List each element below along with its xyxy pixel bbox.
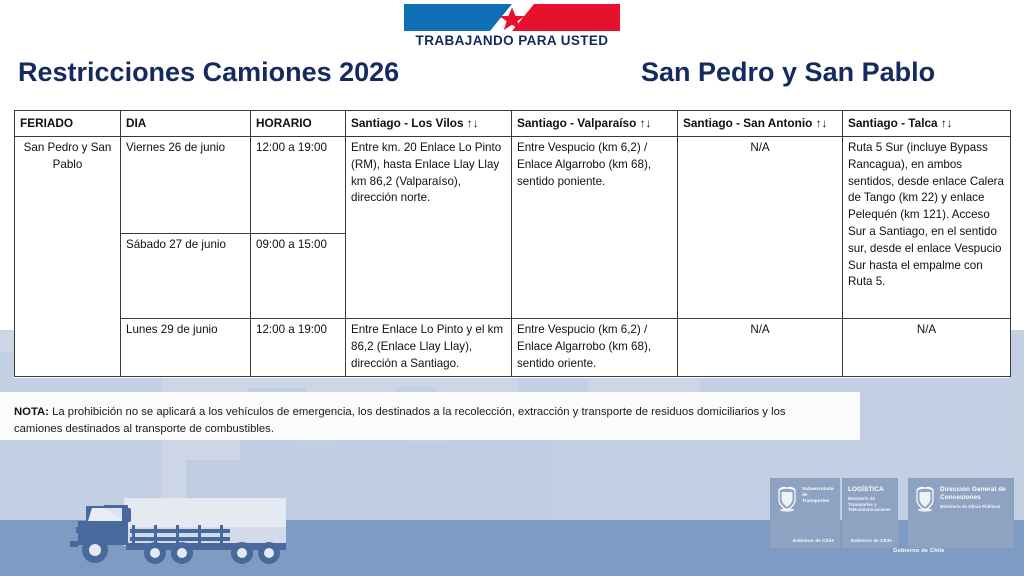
- gobierno-label-1: Gobierno de Chile: [793, 538, 834, 543]
- logo-subtext-2: Ministerio de Transportes y Telecomunica…: [848, 496, 892, 513]
- cell-san-antonio-1: N/A: [678, 137, 843, 319]
- gobierno-label-2: Gobierno de Chile: [851, 538, 892, 543]
- page-title-left: Restricciones Camiones 2026: [18, 57, 399, 88]
- cell-horario-1: 12:00 a 19:00: [251, 137, 346, 234]
- logo-subtext-3: Ministerio de Obras Públicas: [940, 504, 1008, 510]
- footer-logo-group: Subsecretaría de Transportes Gobierno de…: [770, 478, 1024, 576]
- table-header-row: FERIADO DIA HORARIO Santiago - Los Vilos…: [15, 111, 1011, 137]
- logo-logistica: LOGÍSTICA Ministerio de Transportes y Te…: [842, 478, 898, 548]
- restrictions-table: FERIADO DIA HORARIO Santiago - Los Vilos…: [14, 110, 1011, 377]
- nota-label: NOTA:: [14, 406, 49, 418]
- logo-direccion-general-concesiones: Dirección General de Concesiones Ministe…: [908, 478, 1014, 548]
- chile-coat-of-arms-icon: [776, 486, 798, 512]
- cell-dia-1: Viernes 26 de junio: [121, 137, 251, 234]
- logo-subsecretaria-transportes: Subsecretaría de Transportes Gobierno de…: [770, 478, 840, 548]
- slide-canvas: TRABAJANDO PARA USTED Restricciones Cami…: [0, 0, 1024, 576]
- cell-los-vilos-3: Entre Enlace Lo Pinto y el km 86,2 (Enla…: [346, 319, 512, 377]
- nota-text: La prohibición no se aplicará a los vehí…: [14, 406, 786, 435]
- cell-valparaiso-1: Entre Vespucio (km 6,2) / Enlace Algarro…: [512, 137, 678, 319]
- logo-text-2: LOGÍSTICA: [848, 486, 892, 494]
- cell-san-antonio-3: N/A: [678, 319, 843, 377]
- cell-dia-3: Lunes 29 de junio: [121, 319, 251, 377]
- chile-coat-of-arms-icon: [914, 486, 936, 512]
- nota-block: NOTA: La prohibición no se aplicará a lo…: [14, 404, 834, 438]
- cell-horario-2: 09:00 a 15:00: [251, 234, 346, 319]
- logo-text-3: Dirección General de Concesiones: [940, 486, 1008, 502]
- cell-horario-3: 12:00 a 19:00: [251, 319, 346, 377]
- col-header-valparaiso: Santiago - Valparaíso ↑↓: [512, 111, 678, 137]
- col-header-horario: HORARIO: [251, 111, 346, 137]
- cell-valparaiso-3: Entre Vespucio (km 6,2) / Enlace Algarro…: [512, 319, 678, 377]
- gobierno-de-chile-label: Gobierno de Chile: [893, 548, 945, 554]
- col-header-feriado: FERIADO: [15, 111, 121, 137]
- chile-flag-icon: [404, 4, 620, 31]
- col-header-dia: DIA: [121, 111, 251, 137]
- col-header-san-antonio: Santiago - San Antonio ↑↓: [678, 111, 843, 137]
- cell-talca-1: Ruta 5 Sur (incluye Bypass Rancagua), en…: [843, 137, 1011, 319]
- col-header-los-vilos: Santiago - Los Vilos ↑↓: [346, 111, 512, 137]
- table-row: Lunes 29 de junio 12:00 a 19:00 Entre En…: [15, 319, 1011, 377]
- table-row: San Pedro y San Pablo Viernes 26 de juni…: [15, 137, 1011, 234]
- page-title-right: San Pedro y San Pablo: [641, 57, 935, 88]
- cell-dia-2: Sábado 27 de junio: [121, 234, 251, 319]
- cell-los-vilos-1: Entre km. 20 Enlace Lo Pinto (RM), hasta…: [346, 137, 512, 319]
- flag-caption: TRABAJANDO PARA USTED: [416, 34, 609, 48]
- trabajando-para-usted-logo: TRABAJANDO PARA USTED: [404, 4, 620, 48]
- logo-text-1: Subsecretaría de Transportes: [802, 486, 834, 505]
- restrictions-table-container: FERIADO DIA HORARIO Santiago - Los Vilos…: [14, 110, 1010, 377]
- cell-talca-3: N/A: [843, 319, 1011, 377]
- cell-feriado: San Pedro y San Pablo: [15, 137, 121, 377]
- col-header-talca: Santiago - Talca ↑↓: [843, 111, 1011, 137]
